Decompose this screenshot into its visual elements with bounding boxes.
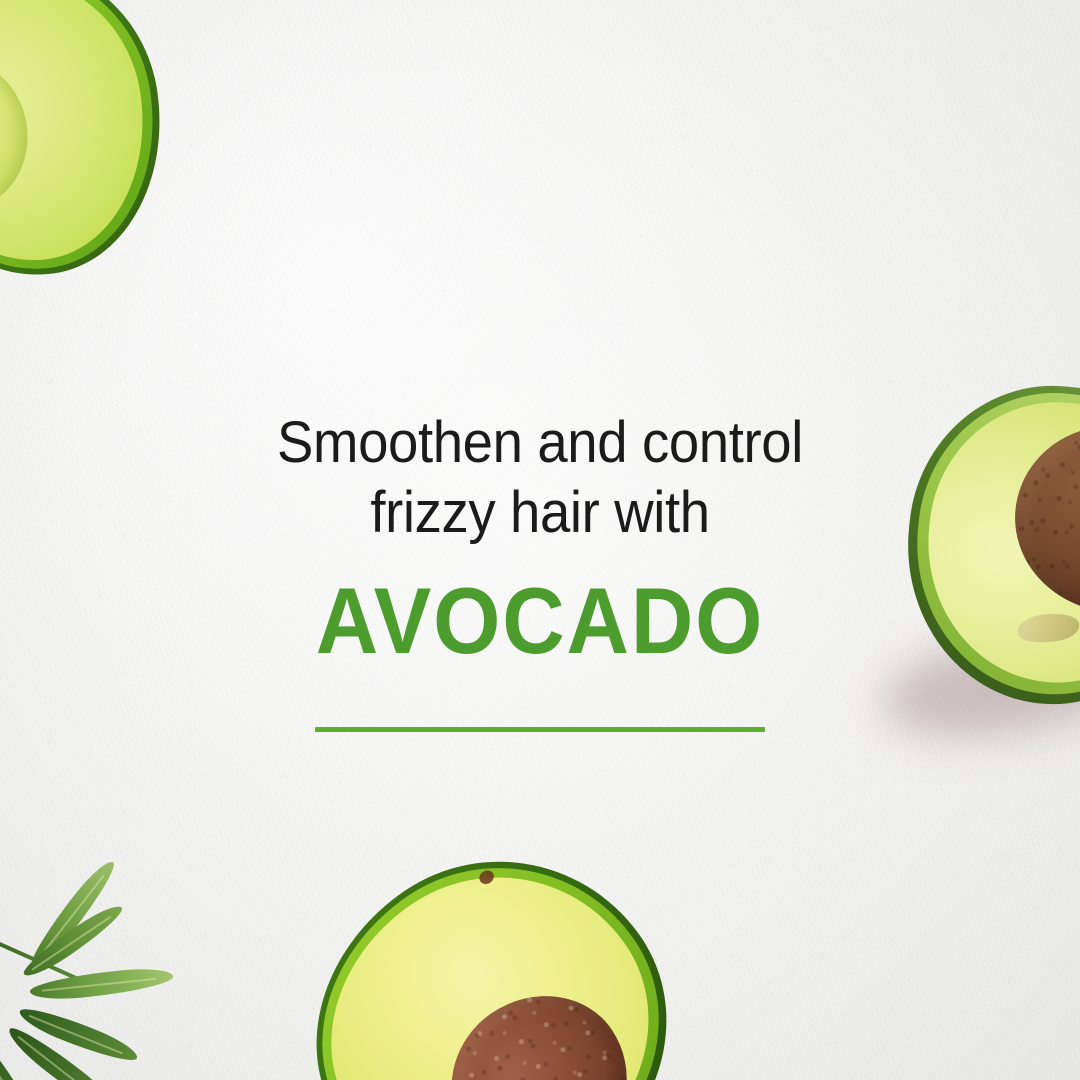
olive-leaf-sprig bbox=[0, 852, 266, 1080]
leaf-vein bbox=[41, 978, 156, 992]
headline-block: Smoothen and control frizzy hair with AV… bbox=[0, 408, 1080, 670]
headline-line-2: frizzy hair with bbox=[32, 478, 1047, 548]
divider-wrap bbox=[0, 727, 1080, 732]
promo-canvas: Smoothen and control frizzy hair with AV… bbox=[0, 0, 1080, 1080]
headline-hero-word: AVOCADO bbox=[43, 572, 1037, 670]
headline-line-1: Smoothen and control bbox=[32, 408, 1047, 478]
green-divider-rule bbox=[315, 727, 765, 732]
sprig-leaf bbox=[29, 965, 175, 1003]
